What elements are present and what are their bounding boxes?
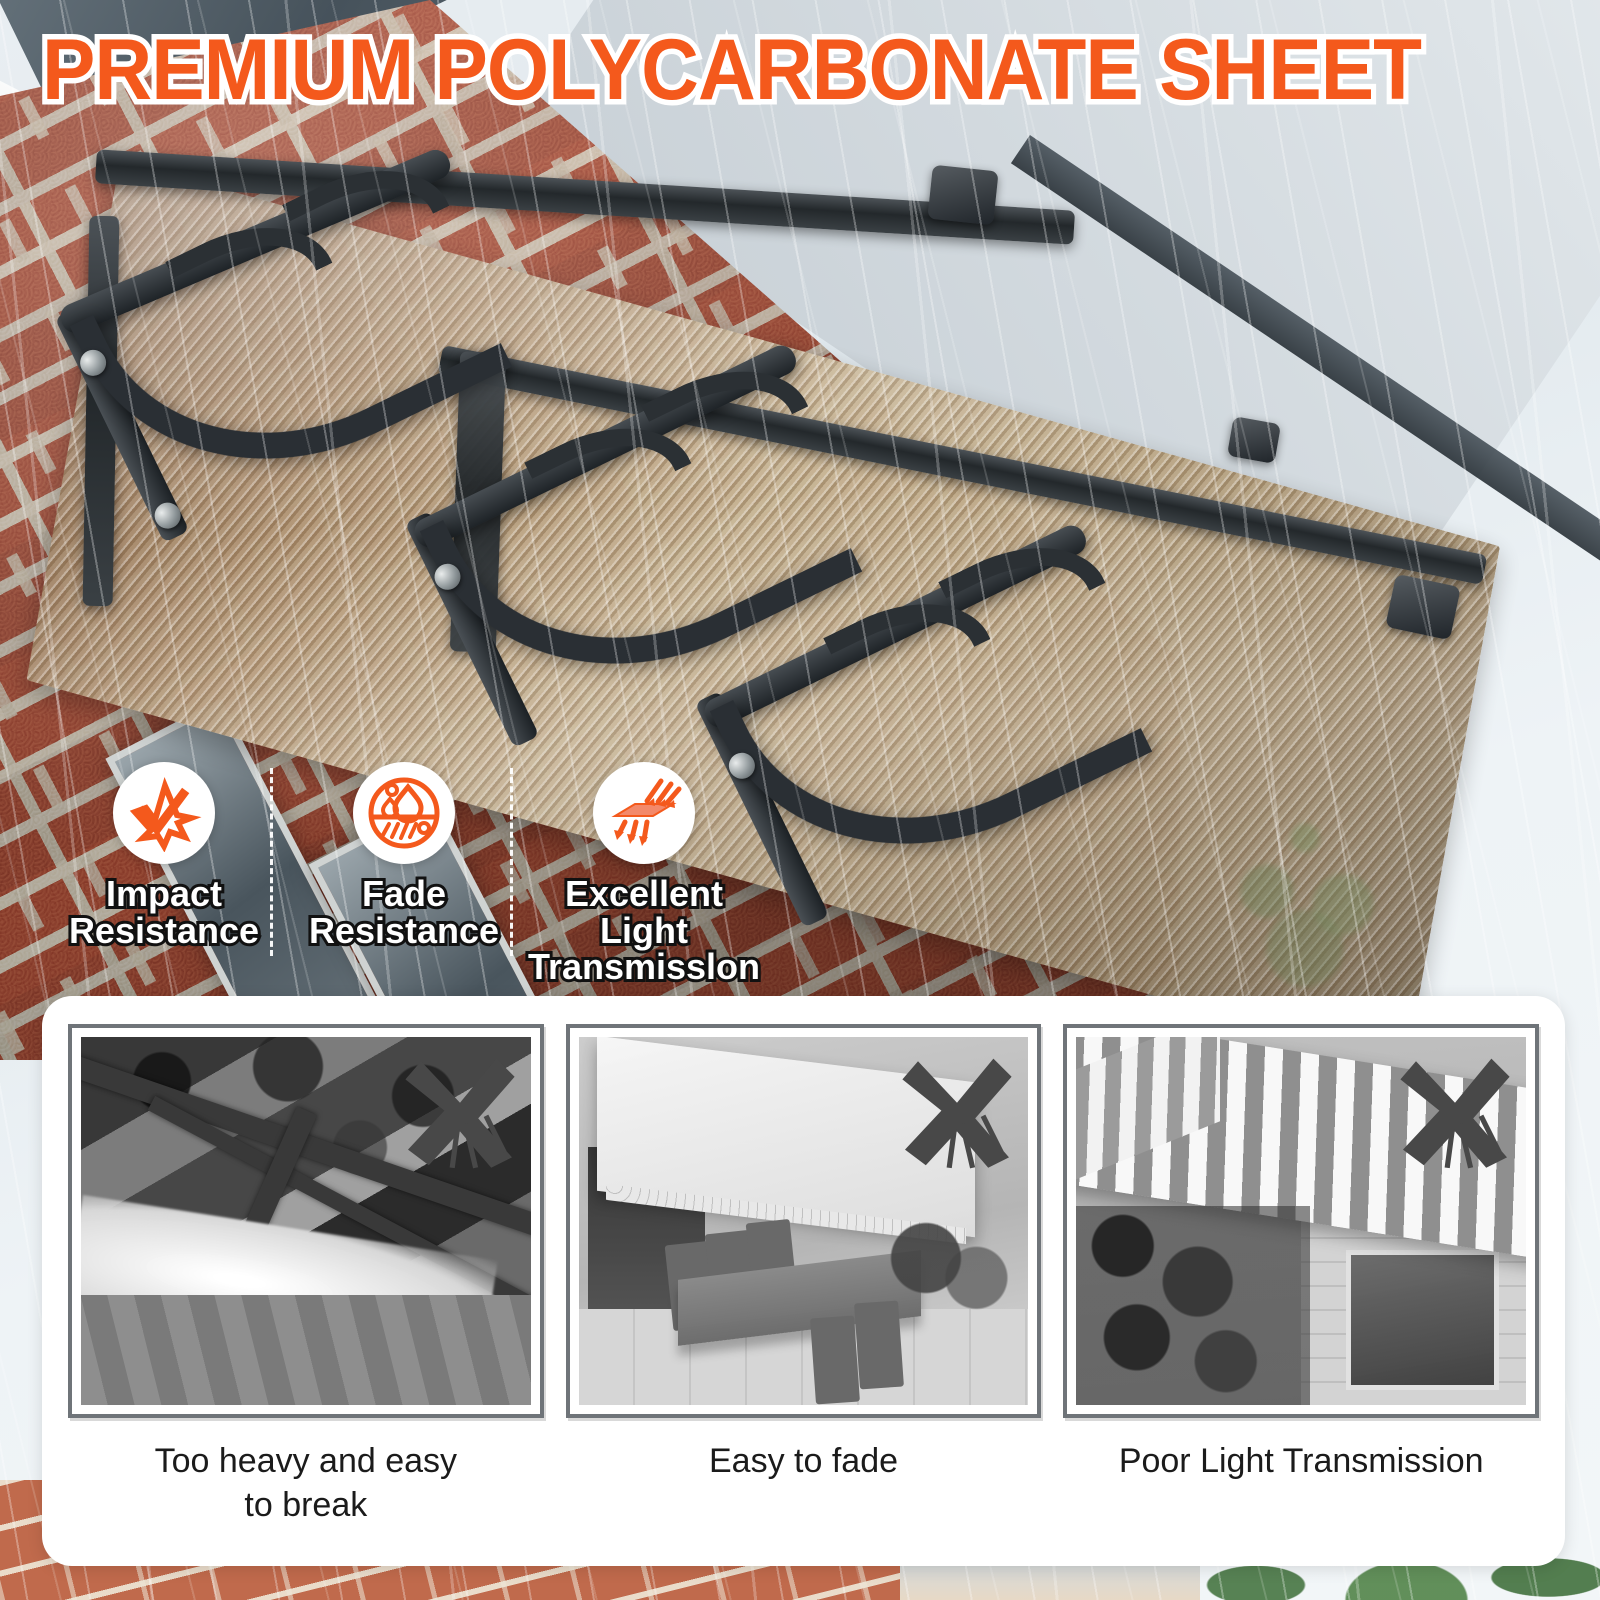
photo-frame [566,1024,1042,1418]
comparison-item: Easy to fade [566,1024,1042,1527]
awning-endcap [927,165,998,226]
red-brush-x-icon [1390,1043,1520,1173]
feature-impact-resistance: Impact Resistance [44,762,284,949]
red-brush-x-icon [892,1043,1022,1173]
comparison-caption: Too heavy and easy to break [155,1440,457,1527]
comparison-caption: Poor Light Transmission [1119,1440,1484,1484]
comparison-card: Too heavy and easy to break [42,996,1565,1566]
photo-frame [1063,1024,1539,1418]
water-drop-fade-icon [353,762,455,864]
feature-label: Impact Resistance [69,876,259,949]
comparison-caption: Easy to fade [709,1440,898,1484]
red-brush-x-icon [395,1043,525,1173]
photo-frame [68,1024,544,1418]
photo-patio-awning [579,1037,1029,1405]
product-marketing-image: PREMIUM POLYCARBONATE SHEET Impact Resis… [0,0,1600,1600]
photo-striped-awning [1076,1037,1526,1405]
feature-label: Excellent Light Transmisslon [524,876,764,986]
comparison-item: Too heavy and easy to break [68,1024,544,1527]
light-transmission-arrows-icon [593,762,695,864]
feature-list: Impact Resistance [44,762,764,986]
comparison-item: Poor Light Transmission [1063,1024,1539,1527]
awning-endcap [1227,416,1281,464]
background-tree [1210,800,1400,990]
photo-collapsed-pergola [81,1037,531,1405]
feature-light-transmission: Excellent Light Transmisslon [524,762,764,986]
impact-burst-check-icon [113,762,215,864]
feature-label: Fade Resistance [309,876,499,949]
feature-fade-resistance: Fade Resistance [284,762,524,949]
page-title: PREMIUM POLYCARBONATE SHEET [42,28,1421,112]
